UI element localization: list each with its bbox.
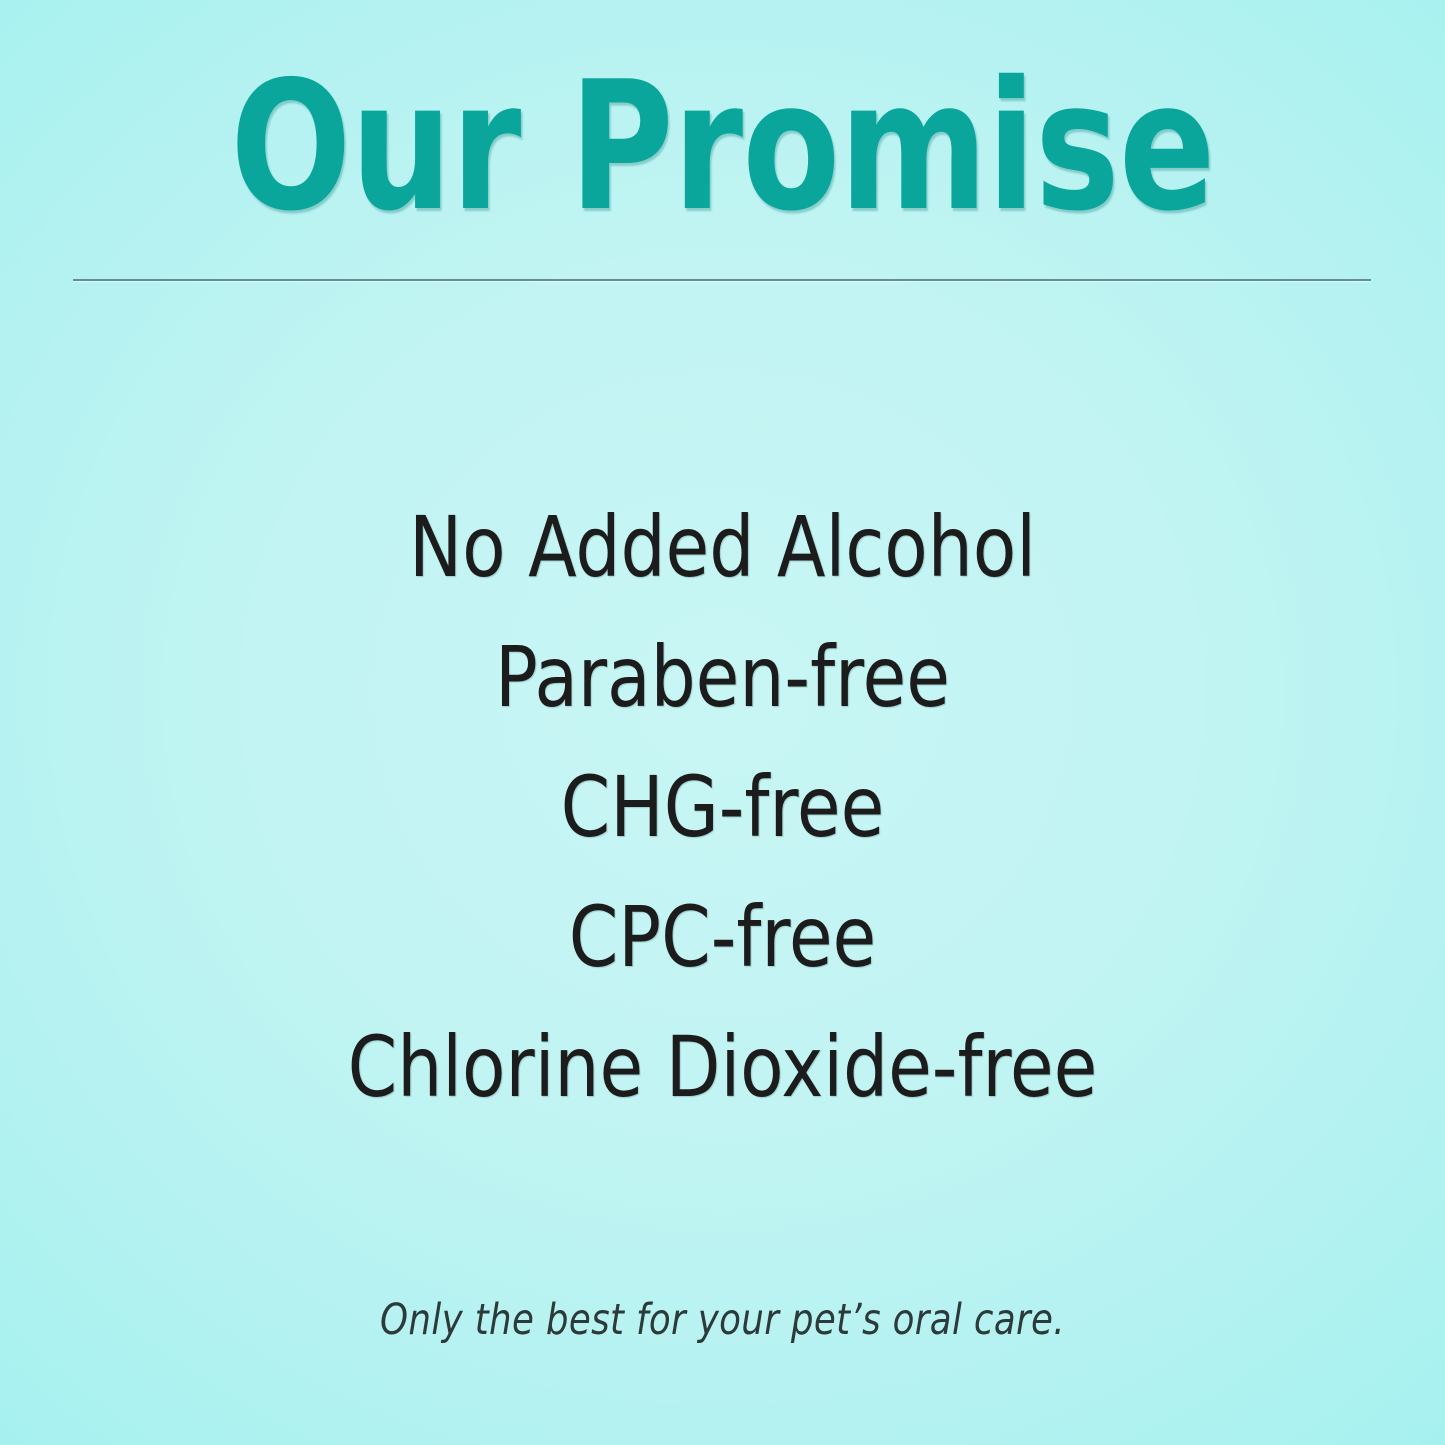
footer-tagline: Only the best for your pet’s oral care. [58, 1297, 1387, 1344]
page-title: Our Promise [145, 58, 1301, 236]
list-item: No Added Alcohol [43, 482, 1401, 612]
list-item: CPC-free [43, 872, 1401, 1002]
list-item: Chlorine Dioxide-free [43, 1002, 1401, 1132]
list-item: Paraben-free [43, 612, 1401, 742]
header-divider [73, 279, 1371, 281]
header: Our Promise [0, 58, 1445, 236]
list-item: CHG-free [43, 742, 1401, 872]
our-promise-card: Our Promise No Added Alcohol Paraben-fre… [0, 0, 1445, 1445]
promise-list: No Added Alcohol Paraben-free CHG-free C… [0, 482, 1445, 1132]
